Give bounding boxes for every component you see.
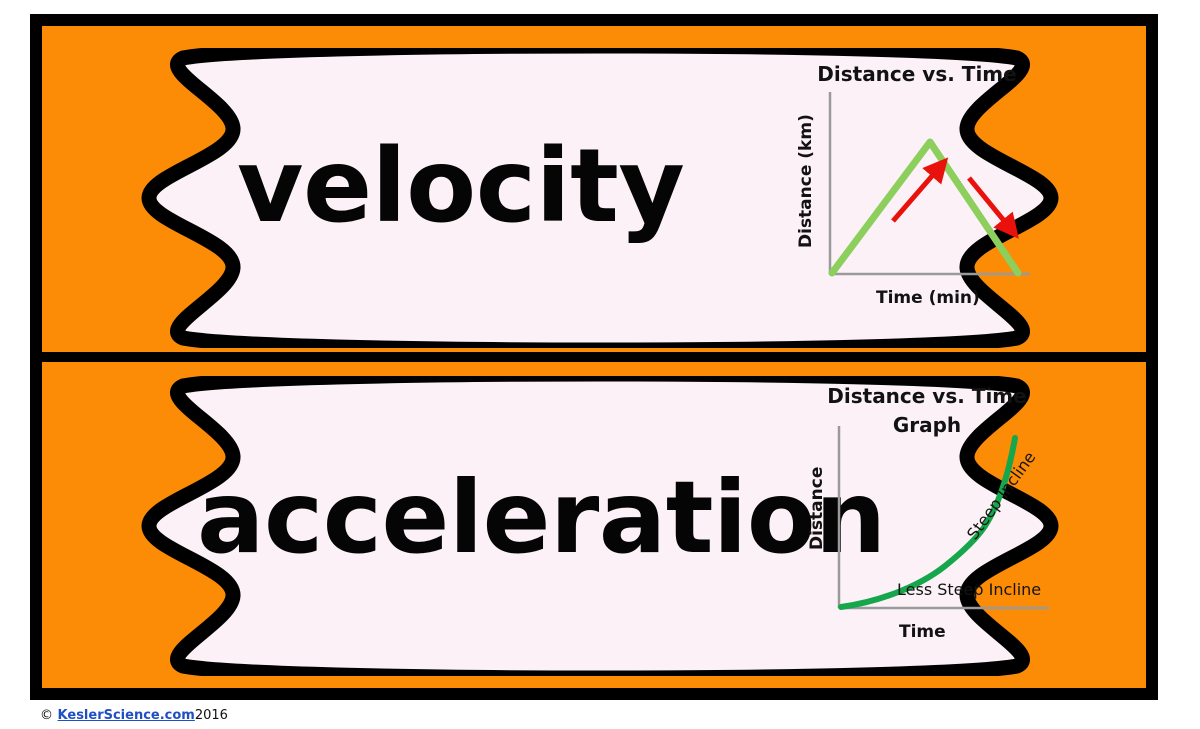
card-panel-velocity: velocity Distance vs. Time Distance (km)… [42,26,1146,352]
distance-time-graph-velocity: Distance vs. Time Distance (km) Time (mi… [782,56,1052,318]
poster-frame: velocity Distance vs. Time Distance (km)… [30,14,1158,700]
distance-time-graph-acceleration: Distance vs. Time Graph Distance Time St… [787,370,1067,660]
graph-plot-area [787,370,1067,660]
copyright-symbol-icon: © [40,708,53,723]
annotation-less-steep-incline: Less Steep Incline [897,580,1041,599]
increasing-velocity-arrow-icon [893,168,939,221]
kesler-science-link[interactable]: KeslerScience.com [58,708,195,723]
copyright-credit: © KeslerScience.com2016 [40,708,228,723]
wavy-card-acceleration[interactable]: acceleration Distance vs. Time Graph Dis… [127,376,1073,676]
vocabulary-term-velocity: velocity [237,136,684,238]
vocabulary-term-acceleration: acceleration [197,468,886,568]
screenshot-canvas: velocity Distance vs. Time Distance (km)… [0,0,1200,729]
card-panel-acceleration: acceleration Distance vs. Time Graph Dis… [42,362,1146,688]
graph-plot-area [782,56,1052,318]
wavy-card-velocity[interactable]: velocity Distance vs. Time Distance (km)… [127,48,1073,348]
copyright-year: 2016 [195,708,228,723]
